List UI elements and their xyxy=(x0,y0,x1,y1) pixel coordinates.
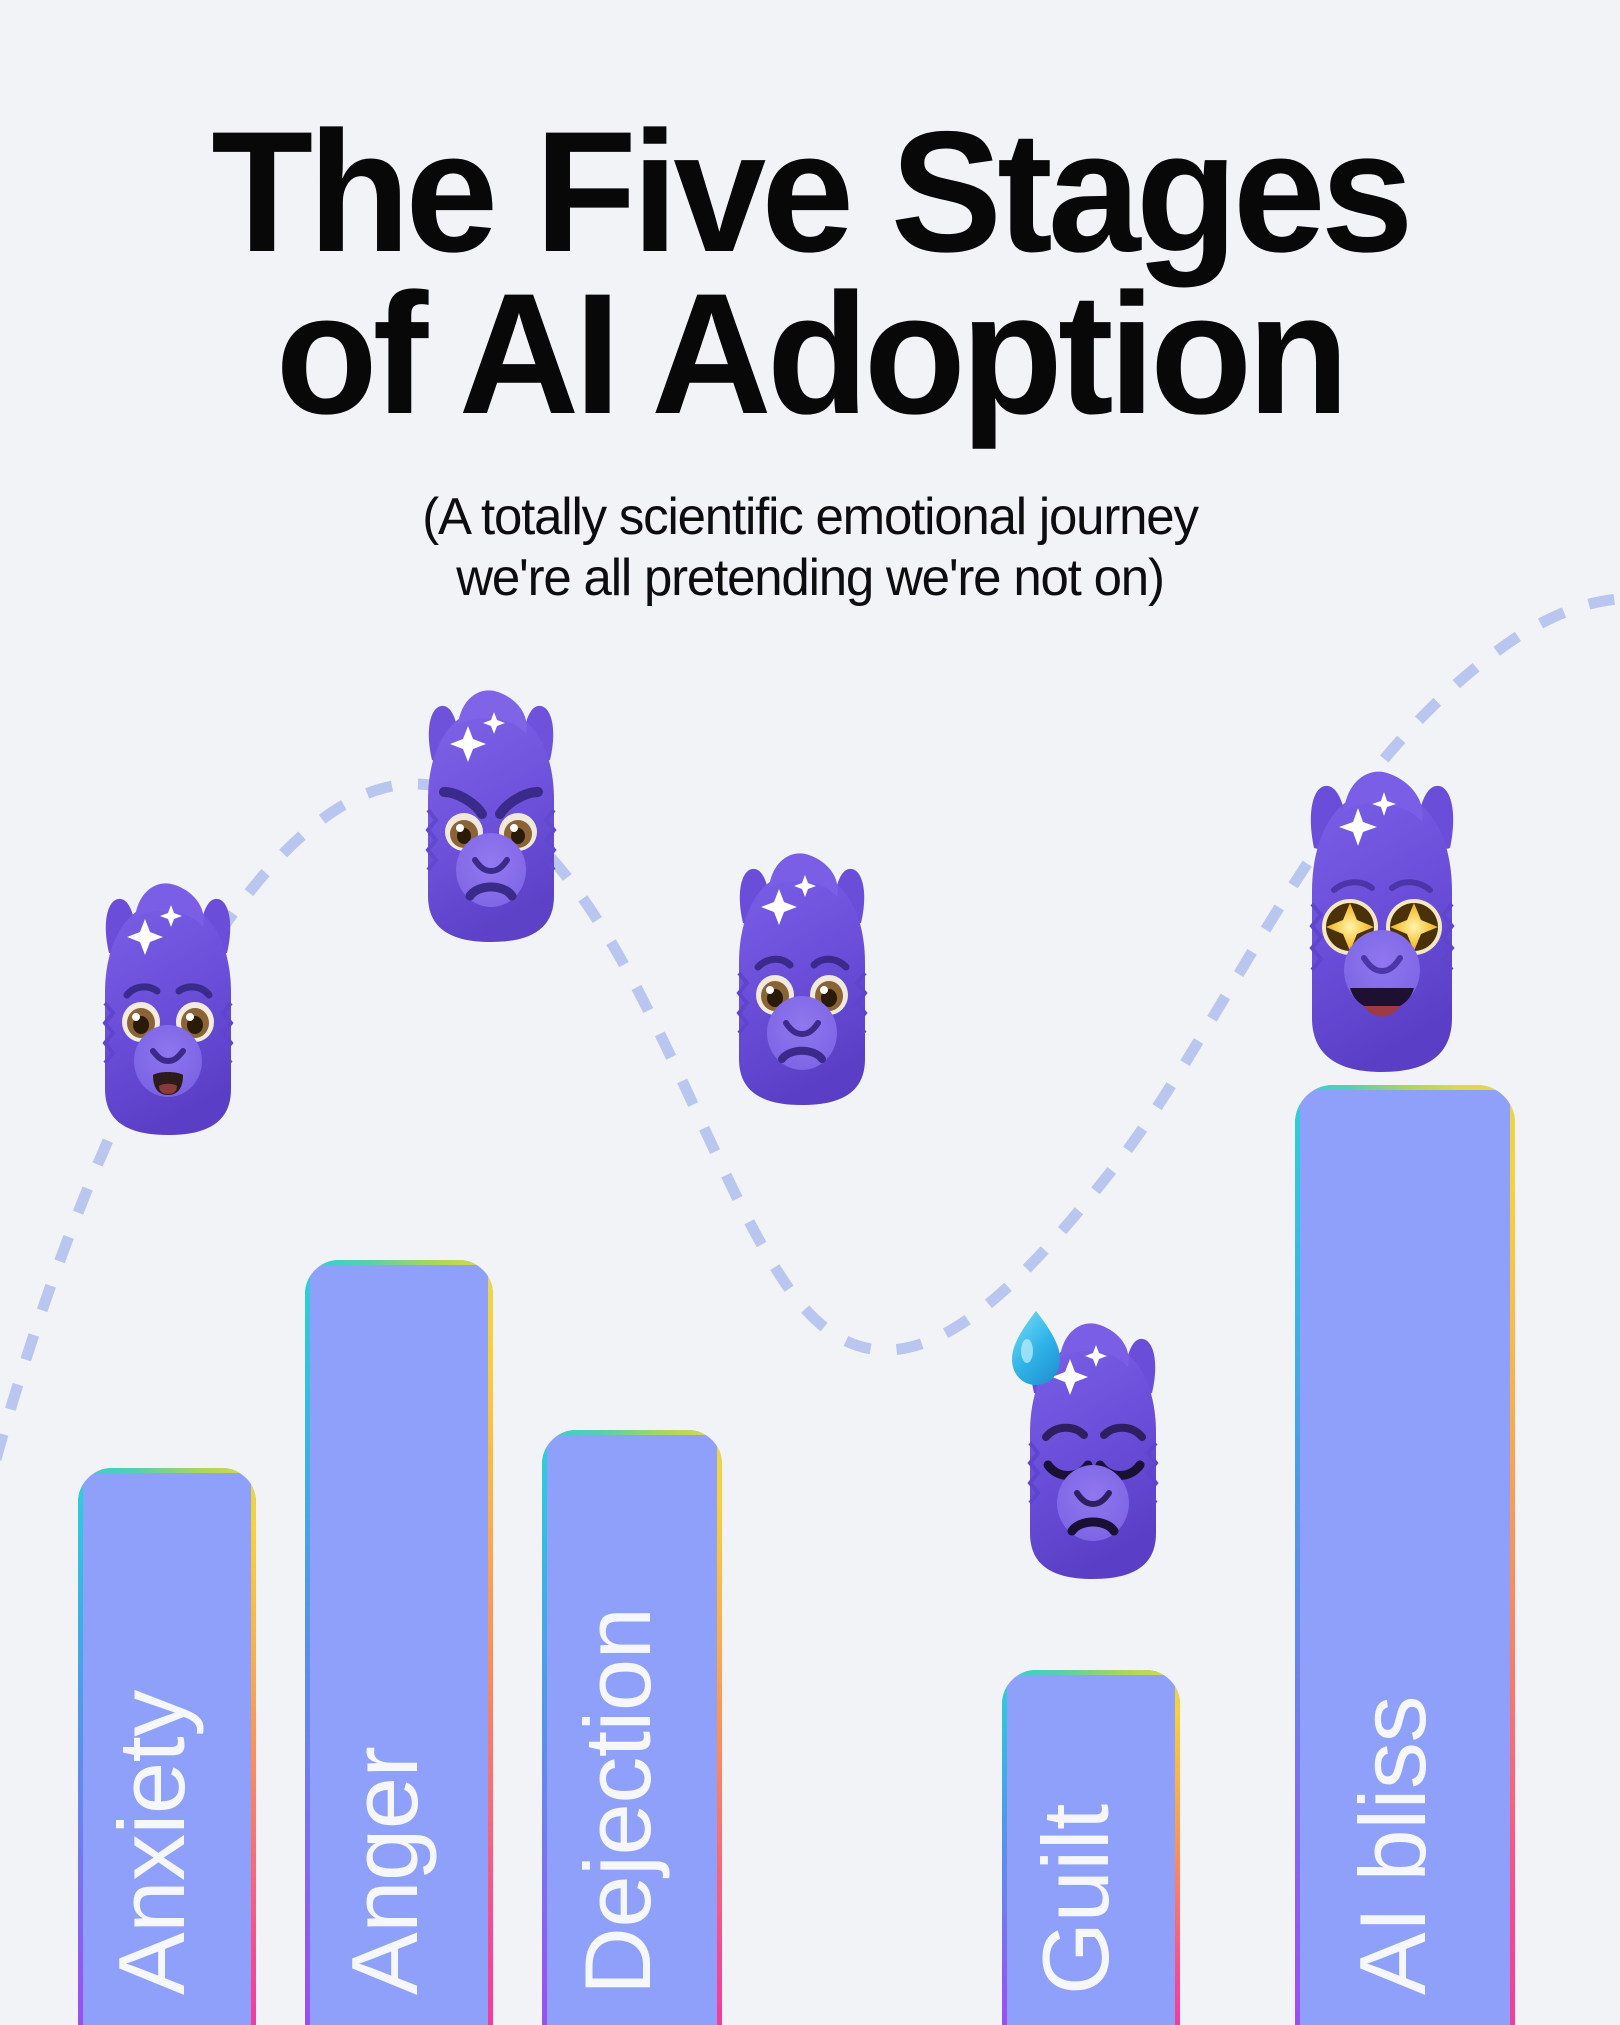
bar-right-edge xyxy=(717,1430,722,2025)
bar-group-anger[interactable]: Anger xyxy=(305,1260,493,2025)
bar-left-edge xyxy=(542,1430,547,2025)
bar-left-edge xyxy=(78,1468,83,2025)
bar-guilt[interactable]: Guilt xyxy=(1002,1670,1180,2025)
sweating-llama-emoji xyxy=(998,1295,1180,1585)
bar-top-edge xyxy=(78,1468,256,1473)
bar-right-edge xyxy=(251,1468,256,2025)
bar-top-edge xyxy=(1295,1085,1515,1090)
bar-group-guilt[interactable]: Guilt xyxy=(1002,1670,1180,2025)
angry-llama-emoji xyxy=(404,680,578,948)
bar-group-anxiety[interactable]: Anxiety xyxy=(78,1468,256,2025)
bar-anxiety[interactable]: Anxiety xyxy=(78,1468,256,2025)
anxious-llama-emoji xyxy=(83,875,253,1140)
bar-top-edge xyxy=(542,1430,722,1435)
bar-group-dejection[interactable]: Dejection xyxy=(542,1430,722,2025)
bar-right-edge xyxy=(488,1260,493,2025)
bar-top-edge xyxy=(305,1260,493,1265)
star-struck-llama-emoji xyxy=(1292,752,1472,1082)
bar-anger[interactable]: Anger xyxy=(305,1260,493,2025)
bar-label-guilt: Guilt xyxy=(1022,1804,1130,1995)
bar-ai-bliss[interactable]: AI bliss xyxy=(1295,1085,1515,2025)
bar-left-edge xyxy=(1295,1085,1300,2025)
bar-label-anger: Anger xyxy=(331,1747,439,1995)
bar-left-edge xyxy=(305,1260,310,2025)
bar-left-edge xyxy=(1002,1670,1007,2025)
bar-label-anxiety: Anxiety xyxy=(98,1690,206,1995)
bar-right-edge xyxy=(1175,1670,1180,2025)
bar-right-edge xyxy=(1510,1085,1515,2025)
bar-dejection[interactable]: Dejection xyxy=(542,1430,722,2025)
bar-chart: Anxiety xyxy=(0,0,1620,2025)
bar-label-dejection: Dejection xyxy=(564,1608,672,1995)
bar-group-ai-bliss[interactable]: AI bliss xyxy=(1295,1085,1515,2025)
bar-top-edge xyxy=(1002,1670,1180,1675)
sad-llama-emoji xyxy=(716,845,888,1110)
bar-label-ai-bliss: AI bliss xyxy=(1339,1696,1447,1995)
